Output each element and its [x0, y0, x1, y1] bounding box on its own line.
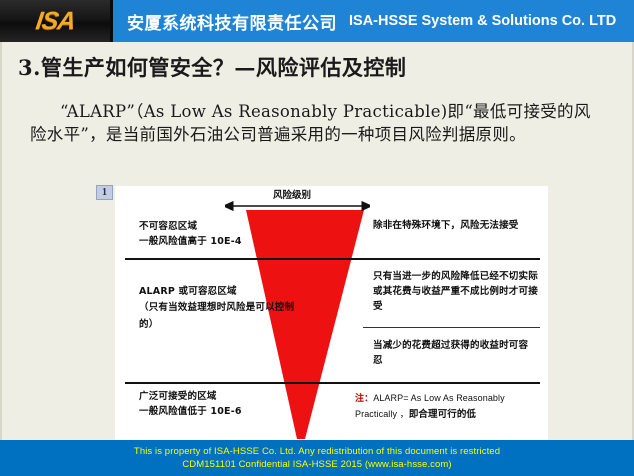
page-title: 3.管生产如何管安全？—风险评估及控制 — [18, 52, 406, 82]
company-name-cn: 安厦系统科技有限责任公司 — [127, 9, 337, 34]
risk-level-label: 风险级别 — [273, 187, 311, 201]
zone-3-detail: 一般风险值低于 10E-6 — [139, 404, 242, 419]
body-paragraph: “ALARP”（As Low As Reasonably Practicable… — [30, 100, 602, 146]
risk-level-arrow-icon — [225, 200, 370, 212]
zone-2-detail: （只有当效益理想时风险是可以控制的） — [139, 299, 299, 333]
footnote-text-cn: 即合理可行的低 — [409, 409, 476, 420]
zone-1-detail: 一般风险值高于 10E-4 — [139, 234, 242, 249]
header-title-bar: 安厦系统科技有限责任公司 ISA-HSSE System & Solutions… — [110, 0, 634, 42]
slide-left-border — [0, 0, 2, 476]
zone-divider-2 — [363, 327, 540, 328]
slide-canvas: ISA 安厦系统科技有限责任公司 ISA-HSSE System & Solut… — [0, 0, 634, 476]
right-note-2: 只有当进一步的风险降低已经不切实际或其花费与收益严重不成比例时才可接受 — [373, 269, 541, 314]
slide-header: ISA 安厦系统科技有限责任公司 ISA-HSSE System & Solut… — [0, 0, 634, 42]
zone-2-title: ALARP 或可容忍区域 — [139, 284, 237, 299]
company-name-en: ISA-HSSE System & Solutions Co. LTD — [349, 13, 616, 29]
alarp-triangle-diagram: 风险级别 不可容忍区域 一般风险值高于 10E-4 ALARP 或可容忍区域 （… — [115, 186, 548, 443]
zone-divider-1 — [125, 258, 540, 260]
logo-text: ISA — [34, 7, 77, 36]
footer-line-1: This is property of ISA-HSSE Co. Ltd. An… — [134, 446, 500, 457]
company-logo: ISA — [0, 0, 110, 42]
footnote-mark: 注： — [355, 394, 373, 404]
zone-3-title: 广泛可接受的区域 — [139, 389, 217, 404]
right-note-1: 除非在特殊环境下，风险无法接受 — [373, 218, 533, 233]
alarp-footnote: 注：ALARP= As Low As Reasonably Practicall… — [355, 391, 545, 422]
right-note-3: 当减少的花费超过获得的收益时可容忍 — [373, 338, 531, 368]
step-number-badge: 1 — [96, 185, 113, 200]
zone-divider-3 — [125, 382, 540, 384]
footer-line-2: CDM151101 Confidential ISA-HSSE 2015 (ww… — [182, 459, 451, 470]
zone-1-title: 不可容忍区域 — [139, 219, 197, 234]
slide-footer: This is property of ISA-HSSE Co. Ltd. An… — [0, 440, 634, 476]
